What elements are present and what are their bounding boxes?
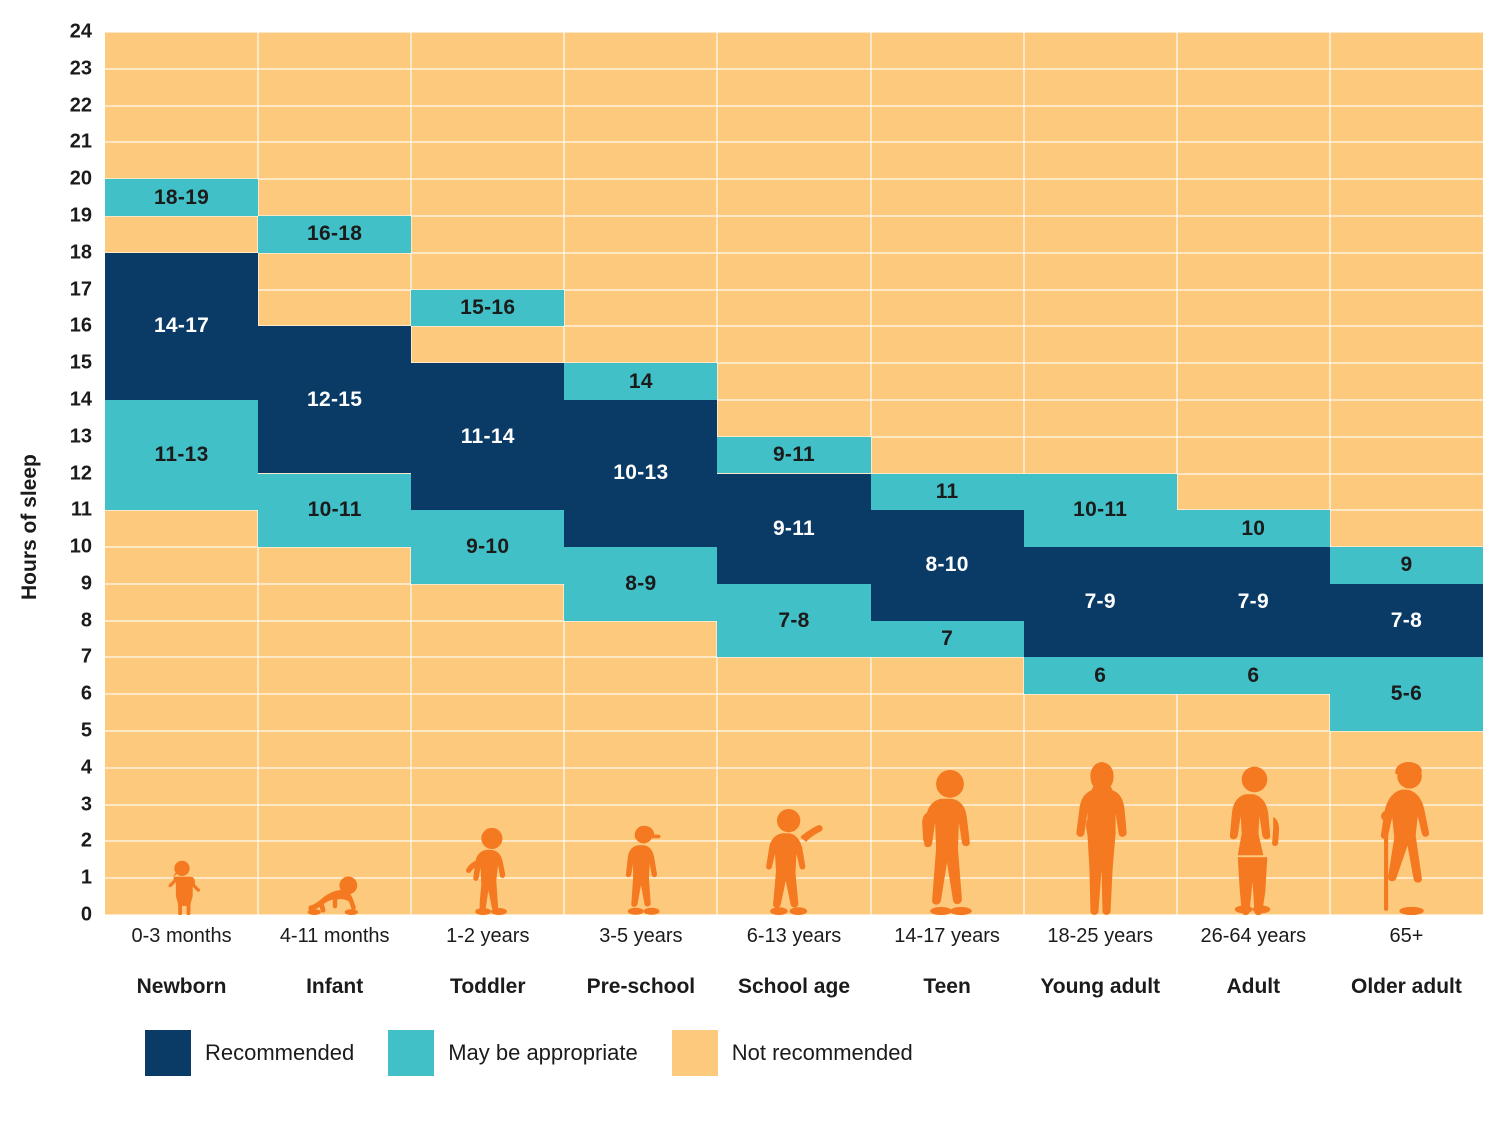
band-may-be-appropriate[interactable]: 6 xyxy=(1024,657,1177,694)
y-axis-tick-22: 22 xyxy=(4,94,92,117)
adult-silhouette-icon xyxy=(1222,764,1285,915)
teen-with-backpack-silhouette-icon xyxy=(917,768,979,915)
y-axis-tick-24: 24 xyxy=(4,21,92,44)
band-label: 12-15 xyxy=(307,388,362,412)
child-waving-silhouette-icon xyxy=(752,808,835,915)
x-axis-age-range-9: 65+ xyxy=(1330,925,1483,948)
crawling-baby-silhouette-icon xyxy=(305,875,365,915)
band-may-be-appropriate[interactable]: 16-18 xyxy=(258,216,411,253)
y-axis-tick-5: 5 xyxy=(4,720,92,743)
x-axis-stage-4: Pre-school xyxy=(564,975,717,999)
y-axis-tick-15: 15 xyxy=(4,352,92,375)
band-may-be-appropriate[interactable]: 9 xyxy=(1330,547,1483,584)
band-label: 7-8 xyxy=(1391,609,1422,633)
band-may-be-appropriate[interactable]: 5-6 xyxy=(1330,657,1483,731)
band-recommended[interactable]: 7-9 xyxy=(1177,547,1330,657)
y-axis-tick-7: 7 xyxy=(4,646,92,669)
y-axis-tick-2: 2 xyxy=(4,830,92,853)
x-axis-stage-8: Adult xyxy=(1177,975,1330,999)
band-may-be-appropriate[interactable]: 14 xyxy=(564,363,717,400)
y-axis-tick-11: 11 xyxy=(4,499,92,522)
x-axis-age-range-4: 3-5 years xyxy=(564,925,717,948)
legend-swatch xyxy=(145,1030,191,1076)
band-label: 7 xyxy=(941,627,953,651)
x-axis-stage-9: Older adult xyxy=(1330,975,1483,999)
band-may-be-appropriate[interactable]: 18-19 xyxy=(105,179,258,216)
chart-column-teen[interactable]: 118-107 xyxy=(871,32,1024,915)
band-label: 10-11 xyxy=(1073,498,1127,522)
band-label: 10-13 xyxy=(613,461,668,485)
x-axis-age-range-7: 18-25 years xyxy=(1024,925,1177,948)
band-label: 9 xyxy=(1400,553,1412,577)
band-recommended[interactable]: 8-10 xyxy=(871,510,1024,620)
legend-swatch xyxy=(672,1030,718,1076)
band-label: 8-9 xyxy=(625,572,656,596)
band-label: 11-14 xyxy=(461,425,515,449)
band-may-be-appropriate[interactable]: 15-16 xyxy=(411,290,564,327)
band-label: 7-9 xyxy=(1238,590,1269,614)
x-axis-stage-6: Teen xyxy=(871,975,1024,999)
sleep-duration-chart: Hours of sleep 0123456789101112131415161… xyxy=(0,0,1500,1125)
x-axis-age-range-2: 4-11 months xyxy=(258,925,411,948)
band-label: 14 xyxy=(629,370,653,394)
young-adult-silhouette-icon xyxy=(1074,760,1127,915)
y-axis-tick-0: 0 xyxy=(4,904,92,927)
band-recommended[interactable]: 10-13 xyxy=(564,400,717,547)
y-axis-tick-18: 18 xyxy=(4,241,92,264)
x-axis-age-range-6: 14-17 years xyxy=(871,925,1024,948)
band-label: 9-10 xyxy=(466,535,509,559)
x-axis-stage-1: Newborn xyxy=(105,975,258,999)
toddler-silhouette-icon xyxy=(460,827,515,915)
x-axis-stage-3: Toddler xyxy=(411,975,564,999)
y-axis-tick-10: 10 xyxy=(4,536,92,559)
y-axis-tick-17: 17 xyxy=(4,278,92,301)
legend-label: Not recommended xyxy=(732,1040,913,1066)
newborn-silhouette-icon xyxy=(162,860,202,915)
band-recommended[interactable]: 7-9 xyxy=(1024,547,1177,657)
band-label: 6 xyxy=(1247,664,1259,688)
x-axis-stage-7: Young adult xyxy=(1024,975,1177,999)
y-axis-tick-21: 21 xyxy=(4,131,92,154)
legend-label: May be appropriate xyxy=(448,1040,638,1066)
chart-column-infant[interactable]: 16-1812-1510-11 xyxy=(258,32,411,915)
band-may-be-appropriate[interactable]: 10-11 xyxy=(258,474,411,548)
band-label: 14-17 xyxy=(154,314,209,338)
y-axis-tick-19: 19 xyxy=(4,204,92,227)
legend-item-may-be-appropriate[interactable]: May be appropriate xyxy=(388,1030,638,1076)
y-axis-tick-1: 1 xyxy=(4,867,92,890)
preschooler-silhouette-icon xyxy=(619,823,663,915)
band-may-be-appropriate[interactable]: 7-8 xyxy=(717,584,870,658)
band-label: 15-16 xyxy=(460,296,515,320)
chart-column-pre-school[interactable]: 1410-138-9 xyxy=(564,32,717,915)
legend-item-not-recommended[interactable]: Not recommended xyxy=(672,1030,913,1076)
x-axis-age-range-5: 6-13 years xyxy=(717,925,870,948)
y-axis-tick-16: 16 xyxy=(4,315,92,338)
legend: RecommendedMay be appropriateNot recomme… xyxy=(145,1030,947,1076)
band-label: 8-10 xyxy=(925,553,968,577)
band-label: 9-11 xyxy=(773,517,815,541)
band-label: 5-6 xyxy=(1391,682,1422,706)
band-label: 10-11 xyxy=(308,498,362,522)
y-axis-tick-23: 23 xyxy=(4,57,92,80)
chart-column-young-adult[interactable]: 10-117-96 xyxy=(1024,32,1177,915)
legend-item-recommended[interactable]: Recommended xyxy=(145,1030,354,1076)
older-adult-with-cane-silhouette-icon xyxy=(1366,760,1447,915)
band-label: 11 xyxy=(936,480,959,504)
band-label: 6 xyxy=(1094,664,1106,688)
band-label: 7-9 xyxy=(1085,590,1116,614)
y-axis-tick-4: 4 xyxy=(4,756,92,779)
x-axis-age-range-8: 26-64 years xyxy=(1177,925,1330,948)
chart-column-school-age[interactable]: 9-119-117-8 xyxy=(717,32,870,915)
legend-label: Recommended xyxy=(205,1040,354,1066)
band-label: 11-13 xyxy=(155,443,209,467)
band-may-be-appropriate[interactable]: 11-13 xyxy=(105,400,258,510)
band-label: 18-19 xyxy=(154,186,209,210)
band-may-be-appropriate[interactable]: 9-10 xyxy=(411,510,564,584)
legend-swatch xyxy=(388,1030,434,1076)
y-axis-tick-9: 9 xyxy=(4,572,92,595)
band-recommended[interactable]: 7-8 xyxy=(1330,584,1483,658)
y-axis-ticks: 0123456789101112131415161718192021222324 xyxy=(0,0,100,1125)
y-axis-tick-14: 14 xyxy=(4,388,92,411)
y-axis-tick-8: 8 xyxy=(4,609,92,632)
band-may-be-appropriate[interactable]: 9-11 xyxy=(717,437,870,474)
chart-column-newborn[interactable]: 18-1914-1711-13 xyxy=(105,32,258,915)
band-label: 16-18 xyxy=(307,222,362,246)
x-axis-age-range-1: 0-3 months xyxy=(105,925,258,948)
plot-area: 18-1914-1711-13 16-1812-1510-11 15-1611-… xyxy=(105,32,1483,915)
x-axis-age-range-3: 1-2 years xyxy=(411,925,564,948)
band-may-be-appropriate[interactable]: 8-9 xyxy=(564,547,717,621)
band-recommended[interactable]: 9-11 xyxy=(717,474,870,584)
band-label: 7-8 xyxy=(778,609,809,633)
x-axis-stage-2: Infant xyxy=(258,975,411,999)
band-label: 10 xyxy=(1241,517,1265,541)
y-axis-tick-12: 12 xyxy=(4,462,92,485)
band-recommended[interactable]: 11-14 xyxy=(411,363,564,510)
band-may-be-appropriate[interactable]: 11 xyxy=(871,474,1024,511)
chart-column-toddler[interactable]: 15-1611-149-10 xyxy=(411,32,564,915)
y-axis-tick-13: 13 xyxy=(4,425,92,448)
chart-column-older-adult[interactable]: 97-85-6 xyxy=(1330,32,1483,915)
band-may-be-appropriate[interactable]: 6 xyxy=(1177,657,1330,694)
band-may-be-appropriate[interactable]: 10 xyxy=(1177,510,1330,547)
y-axis-tick-3: 3 xyxy=(4,793,92,816)
band-recommended[interactable]: 14-17 xyxy=(105,253,258,400)
x-axis-stage-5: School age xyxy=(717,975,870,999)
chart-column-adult[interactable]: 107-96 xyxy=(1177,32,1330,915)
band-may-be-appropriate[interactable]: 10-11 xyxy=(1024,474,1177,548)
y-axis-tick-20: 20 xyxy=(4,168,92,191)
band-label: 9-11 xyxy=(773,443,815,467)
y-axis-tick-6: 6 xyxy=(4,683,92,706)
band-recommended[interactable]: 12-15 xyxy=(258,326,411,473)
band-may-be-appropriate[interactable]: 7 xyxy=(871,621,1024,658)
